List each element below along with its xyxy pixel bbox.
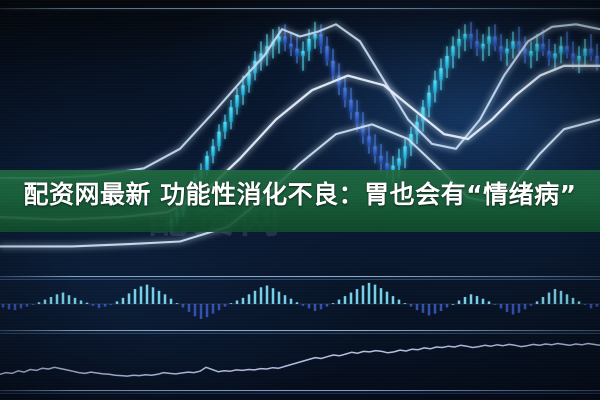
oscillator-line-panel [0, 336, 600, 388]
oscillator-chart-svg [0, 336, 600, 388]
panel-separator-top [0, 8, 600, 9]
panel-separator-e [0, 390, 600, 391]
macd-bar-series [2, 283, 599, 319]
panel-separator-f [0, 393, 600, 394]
panel-separator-a [0, 276, 600, 277]
headline-text: 配资网最新 功能性消化不良：胃也会有“情绪病” [0, 174, 600, 216]
macd-chart-svg [0, 280, 600, 328]
stock-chart-banner-image: 配资网 配资网最新 功能性消化不良：胃也会有“情绪病” [0, 0, 600, 400]
oscillator-series [0, 344, 600, 377]
panel-separator-c [0, 330, 600, 331]
macd-histogram-panel [0, 280, 600, 328]
panel-separator-d [0, 333, 600, 334]
